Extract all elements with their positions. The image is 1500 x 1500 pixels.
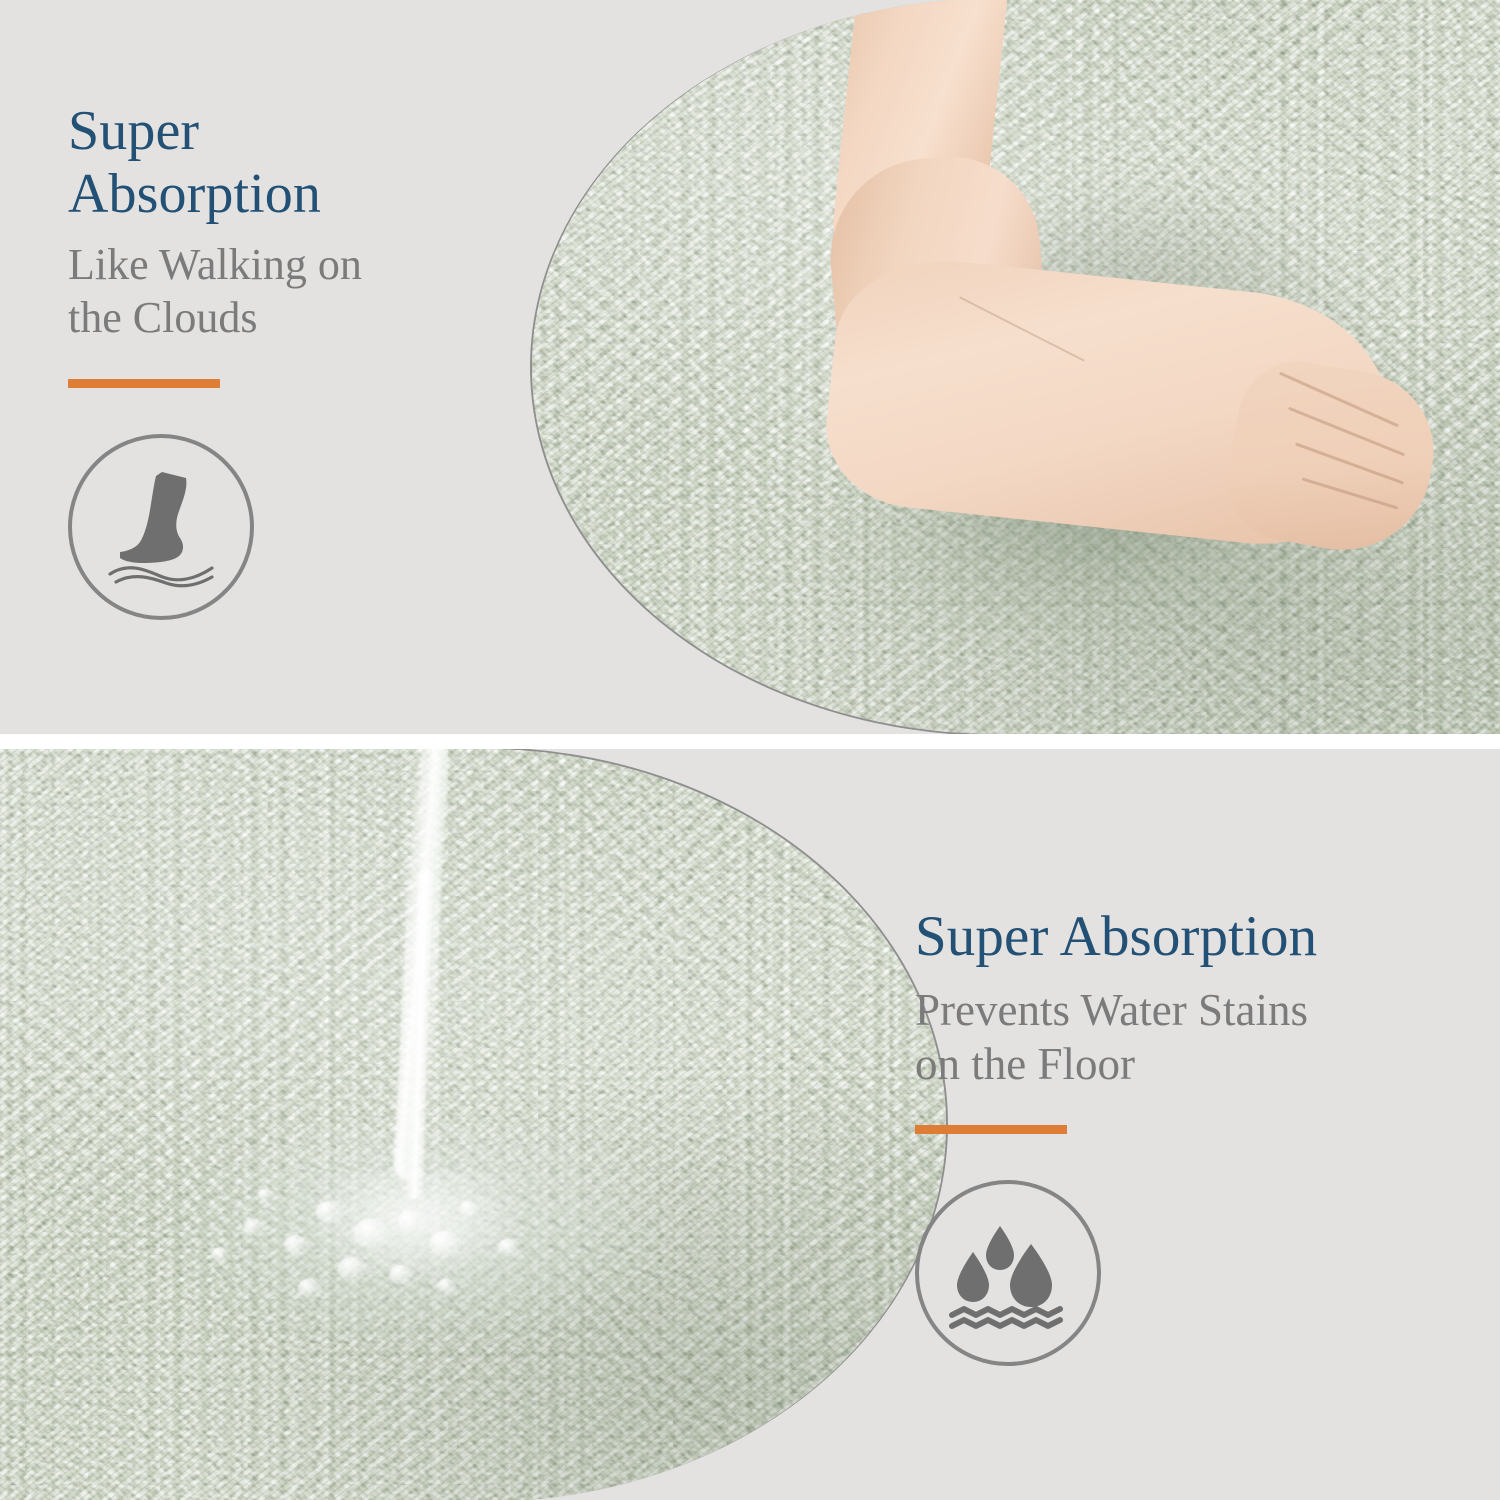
water-bubble xyxy=(390,1265,411,1283)
headline-line: Absorption xyxy=(68,163,498,226)
headline-line: Super xyxy=(68,100,498,163)
feature-text-bottom: Super Absorption Prevents Water Stains o… xyxy=(915,905,1475,1366)
headline-top: Super Absorption xyxy=(68,100,498,225)
photo-foot-on-rug xyxy=(530,0,1500,734)
product-feature-graphic: Super Absorption Like Walking on the Clo… xyxy=(0,0,1500,1500)
foot-comfort-glyph xyxy=(102,466,220,588)
water-bubble xyxy=(244,1219,263,1235)
water-bubble xyxy=(284,1235,308,1255)
water-bubble xyxy=(430,1231,460,1256)
subhead-top: Like Walking on the Clouds xyxy=(68,239,498,345)
water-bubble xyxy=(498,1239,518,1256)
subhead-line: Like Walking on xyxy=(68,239,498,292)
headline-bottom: Super Absorption xyxy=(915,905,1475,969)
water-bubble xyxy=(298,1279,320,1297)
water-bubble xyxy=(354,1219,388,1247)
water-bubble xyxy=(460,1201,478,1216)
subhead-line: Prevents Water Stains xyxy=(915,983,1475,1037)
water-bubble xyxy=(438,1279,455,1293)
foot-comfort-icon xyxy=(68,434,254,620)
water-bubble xyxy=(212,1247,228,1261)
feature-panel-bottom: Super Absorption Prevents Water Stains o… xyxy=(0,749,1500,1500)
feature-text-top: Super Absorption Like Walking on the Clo… xyxy=(68,100,498,620)
foot-photo-subject xyxy=(532,0,1500,734)
accent-bar-bottom xyxy=(915,1125,1067,1134)
photo-water-on-rug xyxy=(0,749,948,1500)
headline-line: Super Absorption xyxy=(915,905,1475,969)
subhead-line: on the Floor xyxy=(915,1037,1475,1091)
water-bubble xyxy=(316,1201,342,1223)
subhead-line: the Clouds xyxy=(68,292,498,345)
water-drops-icon xyxy=(915,1180,1101,1366)
water-bubble xyxy=(258,1189,272,1201)
water-drops-glyph xyxy=(948,1214,1068,1332)
feature-panel-top: Super Absorption Like Walking on the Clo… xyxy=(0,0,1500,734)
accent-bar-top xyxy=(68,379,220,388)
subhead-bottom: Prevents Water Stains on the Floor xyxy=(915,983,1475,1091)
water-bubble xyxy=(338,1257,366,1280)
water-bubble xyxy=(398,1211,420,1230)
